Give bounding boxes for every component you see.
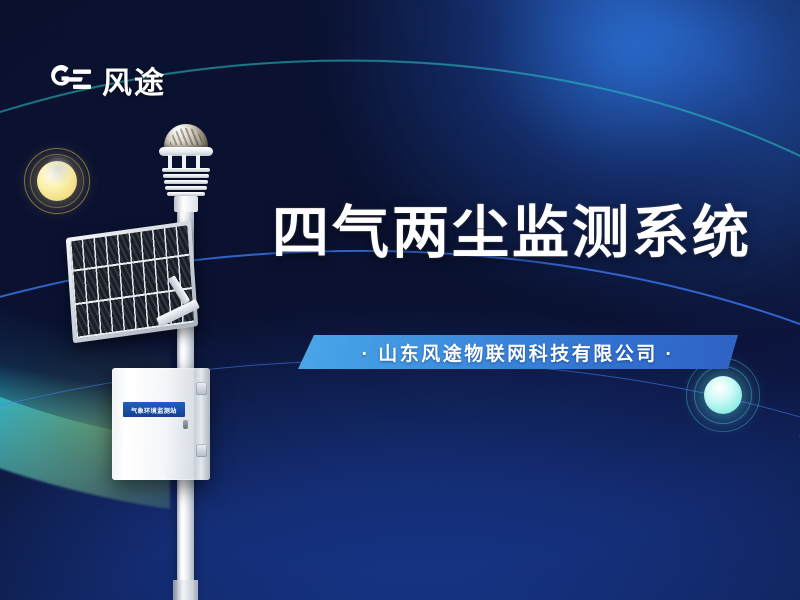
cabinet-label: 气象环境监测站 bbox=[123, 402, 185, 417]
cabinet-side-glow bbox=[44, 154, 74, 184]
company-name-text: · 山东风途物联网科技有限公司 · bbox=[362, 339, 675, 366]
poster-title: 四气两尘监测系统 bbox=[272, 204, 752, 264]
cabinet-label-text: 气象环境监测站 bbox=[131, 405, 177, 415]
control-cabinet: 气象环境监测站 bbox=[112, 368, 210, 480]
cabinet-hinge-top bbox=[196, 382, 207, 395]
shield-plate bbox=[163, 174, 209, 178]
radiation-shield bbox=[161, 168, 211, 198]
cabinet-hinge-bottom bbox=[196, 444, 207, 457]
poster-canvas: 风途 四气两尘监测系统 · 山东风途物联网科技有限公司 · bbox=[0, 0, 800, 600]
company-name-banner: · 山东风途物联网科技有限公司 · bbox=[298, 335, 738, 369]
fengtu-g-mark-icon bbox=[48, 63, 94, 97]
pole-base-collar bbox=[173, 580, 198, 600]
shield-plate bbox=[164, 180, 208, 184]
cyan-light-orb bbox=[692, 364, 754, 426]
cyan-orb-core bbox=[704, 376, 742, 414]
cabinet-lock-icon bbox=[183, 420, 188, 429]
sensor-mount-neck bbox=[174, 196, 198, 212]
ultrasonic-weather-sensor bbox=[155, 124, 217, 204]
shield-plate bbox=[162, 168, 210, 172]
brand-logo-text: 风途 bbox=[102, 58, 166, 102]
brand-logo: 风途 bbox=[48, 58, 166, 102]
shield-plate bbox=[165, 186, 207, 190]
weather-monitoring-station: 气象环境监测站 bbox=[60, 110, 260, 600]
